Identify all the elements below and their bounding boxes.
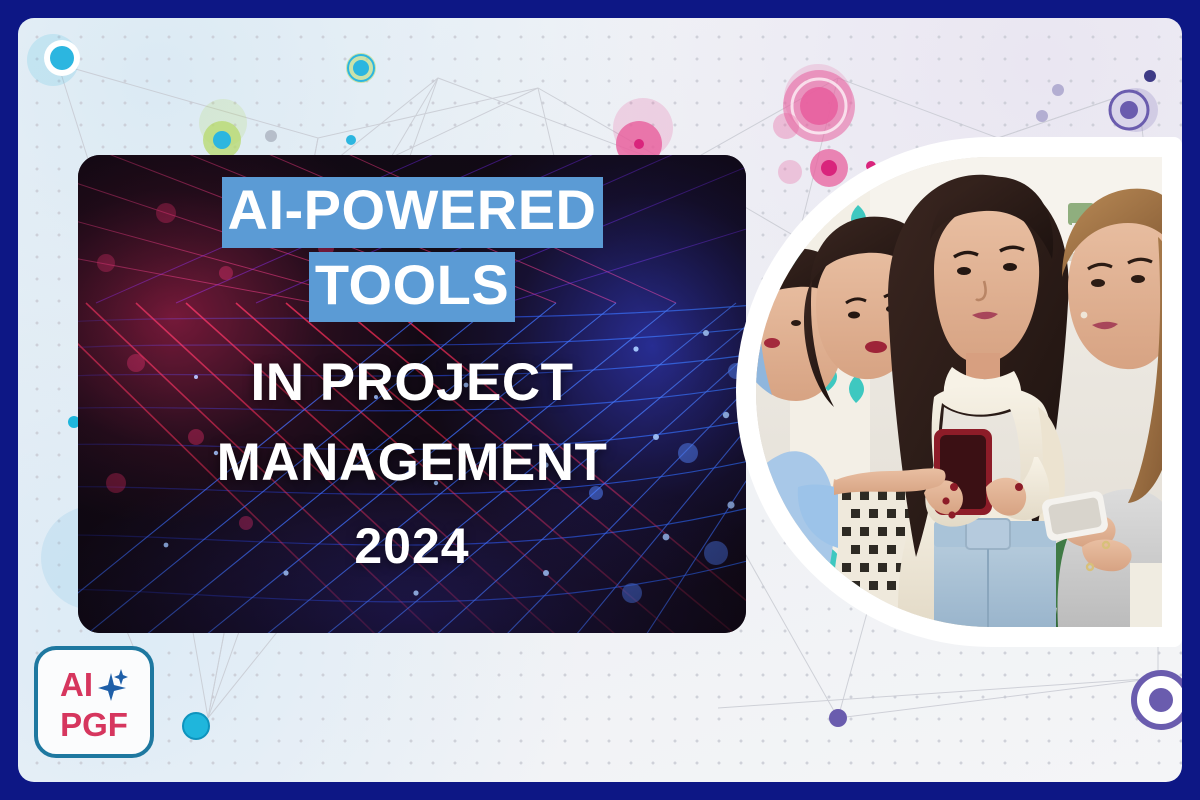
decor-node-green-upper bbox=[346, 53, 376, 83]
sparkle-icon bbox=[98, 669, 128, 701]
headline-line-3: IN PROJECT bbox=[250, 354, 573, 411]
photo-panel bbox=[736, 137, 1182, 647]
decor-node-green-left bbox=[203, 121, 241, 159]
headline-line-1: AI-POWERED bbox=[222, 177, 603, 248]
decor-node-pink-soft bbox=[773, 113, 799, 139]
decor-node-cyan-bottom bbox=[183, 713, 209, 739]
headline-line-4-row: MANAGEMENT bbox=[78, 434, 746, 491]
photo-image-clip bbox=[756, 157, 1162, 627]
logo-text-pgf: PGF bbox=[60, 708, 128, 741]
headline-line-2: TOOLS bbox=[309, 252, 515, 323]
decor-node-cyan-topleft bbox=[44, 40, 80, 76]
decor-node-purple-bottom bbox=[829, 709, 847, 727]
inner-canvas: AI-POWERED TOOLS IN PROJECT MANAGEMENT 2… bbox=[18, 18, 1182, 782]
headline-line-2-row: TOOLS bbox=[78, 252, 746, 323]
decor-node-purple-small bbox=[1144, 70, 1156, 82]
brand-logo-badge[interactable]: AI PGF bbox=[34, 646, 154, 758]
headline-line-4: MANAGEMENT bbox=[217, 434, 608, 491]
decor-node-cyan-small bbox=[346, 135, 356, 145]
headline-line-3-row: IN PROJECT bbox=[78, 354, 746, 411]
headline-line-1-row: AI-POWERED bbox=[78, 177, 746, 248]
logo-text-ai: AI bbox=[60, 668, 93, 701]
photo-illustration-women-with-phone bbox=[756, 157, 1162, 627]
poster-canvas: AI-POWERED TOOLS IN PROJECT MANAGEMENT 2… bbox=[0, 0, 1200, 800]
headline-block: AI-POWERED TOOLS IN PROJECT MANAGEMENT 2… bbox=[78, 155, 746, 633]
decor-node-purple-ring-top bbox=[1109, 90, 1149, 130]
decor-node-grey bbox=[265, 130, 277, 142]
headline-line-5-row: 2024 bbox=[78, 517, 746, 575]
logo-top-row: AI bbox=[60, 664, 128, 706]
decor-node-purple-ring-bottom bbox=[1132, 671, 1182, 729]
headline-year: 2024 bbox=[354, 517, 469, 575]
